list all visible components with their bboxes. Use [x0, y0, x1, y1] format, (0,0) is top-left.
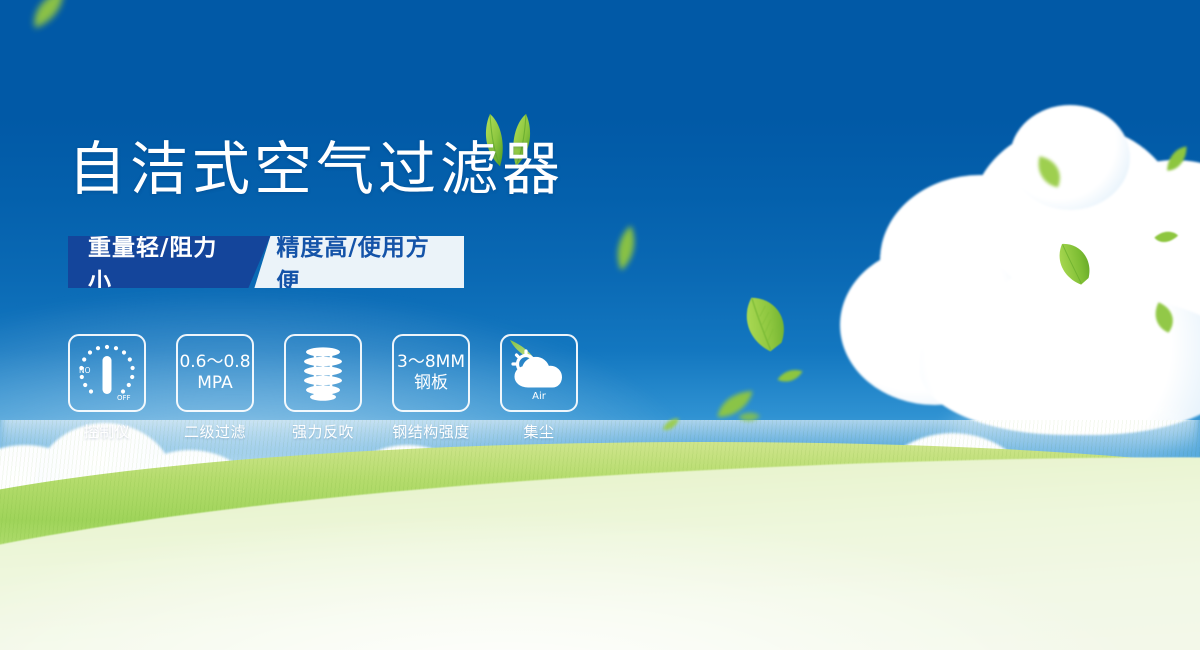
ground-light	[0, 500, 1200, 650]
dial-off-label: OFF	[117, 394, 131, 402]
feature-item[interactable]: 3～8MM 钢板 钢结构强度	[392, 334, 470, 442]
page-title: 自洁式空气过滤器	[68, 140, 564, 198]
filter-cartridge-icon	[284, 334, 362, 412]
subtitle-right: 精度高/使用方便	[254, 236, 464, 288]
grass-field	[0, 420, 1200, 650]
feature-item[interactable]: Air 集尘	[500, 334, 578, 442]
feature-label: 钢结构强度	[392, 421, 470, 442]
feature-item[interactable]: NO OFF 控制仪	[68, 334, 146, 442]
feature-item[interactable]: 0.6～0.8 MPA 二级过滤	[176, 334, 254, 442]
steel-line-2: 钢板	[397, 373, 465, 394]
dial-on-label: NO	[79, 366, 91, 375]
subtitle-left: 重量轻/阻力小	[68, 236, 270, 288]
feature-list: NO OFF 控制仪 0.6～0.8 MPA 二级过滤	[68, 334, 578, 442]
feature-label: 二级过滤	[184, 421, 246, 442]
cloud-shape	[516, 358, 561, 386]
floating-leaf	[776, 367, 804, 386]
pressure-line-2: MPA	[179, 373, 250, 394]
subtitle-bar: 重量轻/阻力小 精度高/使用方便	[68, 236, 464, 288]
pressure-text-icon: 0.6～0.8 MPA	[176, 334, 254, 412]
feature-label: 集尘	[523, 421, 554, 442]
cloud-large-right	[820, 105, 1200, 435]
steel-line-1: 3～8MM	[397, 352, 465, 373]
control-dial-icon: NO OFF	[68, 334, 146, 412]
promo-banner: 自洁式空气过滤器 重量轻/阻力小 精度高/使用方便	[0, 0, 1200, 650]
steel-plate-text-icon: 3～8MM 钢板	[392, 334, 470, 412]
feature-label: 强力反吹	[292, 421, 354, 442]
cloud-air-icon: Air	[500, 334, 578, 412]
feature-label: 控制仪	[84, 421, 131, 442]
cloud-air-label: Air	[532, 391, 547, 402]
feature-item[interactable]: 强力反吹	[284, 334, 362, 442]
pressure-line-1: 0.6～0.8	[179, 352, 250, 373]
